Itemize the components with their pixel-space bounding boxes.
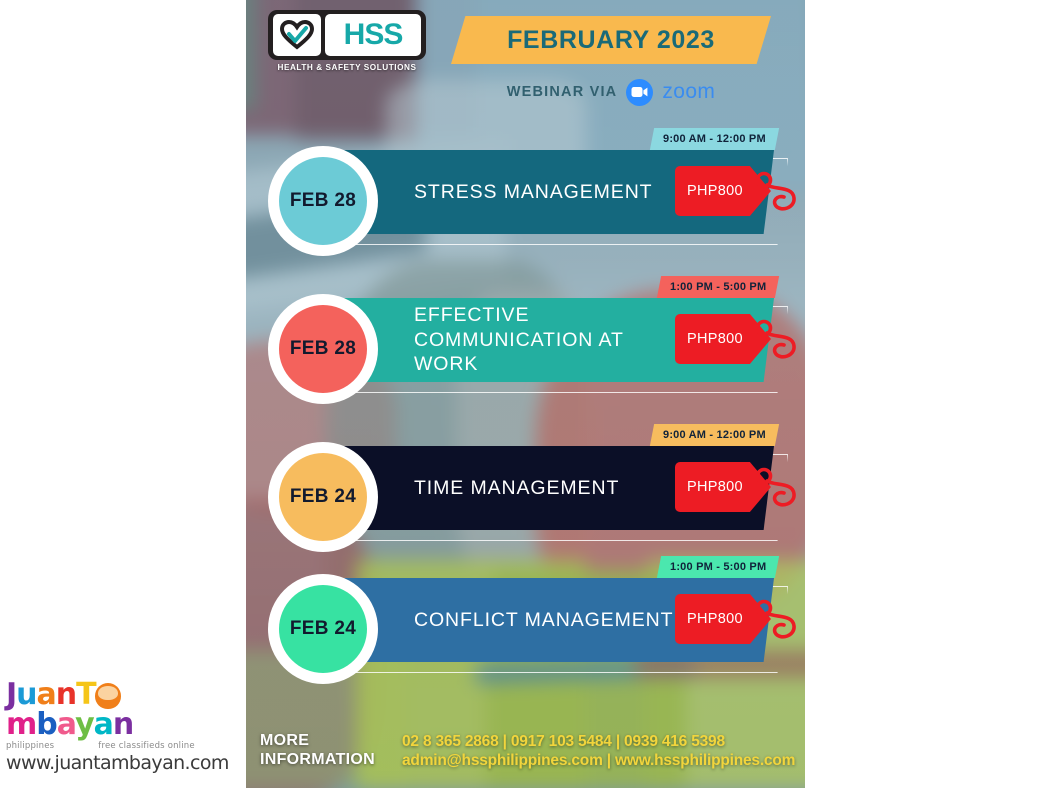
watermark-tag-right: free classifieds online xyxy=(98,741,195,751)
wm-letter: b xyxy=(36,707,56,742)
logo-wordmark: HSS xyxy=(325,14,421,56)
event-date-circle: FEB 28 xyxy=(268,146,378,256)
screenshot-root: HSS HEALTH & SAFETY SOLUTIONS FEBRUARY 2… xyxy=(0,0,1050,788)
poster-image: HSS HEALTH & SAFETY SOLUTIONS FEBRUARY 2… xyxy=(246,0,805,788)
event-date-circle: FEB 24 xyxy=(268,574,378,684)
event-date-text: FEB 24 xyxy=(290,486,356,508)
wm-letter: a xyxy=(57,707,75,742)
webinar-label: WEBINAR VIA xyxy=(507,84,618,100)
wm-letter: a xyxy=(94,707,113,742)
hss-logo: HSS HEALTH & SAFETY SOLUTIONS xyxy=(268,10,430,72)
event-title: TIME MANAGEMENT xyxy=(414,476,619,501)
event-price-text: PHP800 xyxy=(687,183,743,199)
event-price-text: PHP800 xyxy=(687,611,743,627)
price-tag-string-icon xyxy=(753,592,805,646)
event-time-badge: 1:00 PM - 5:00 PM xyxy=(657,556,780,578)
event-date-text: FEB 28 xyxy=(290,190,356,212)
event-date-circle: FEB 24 xyxy=(268,442,378,552)
event-row[interactable]: TIME MANAGEMENT 9:00 AM - 12:00 PM PHP80… xyxy=(246,436,805,556)
juantambayan-watermark: JuanTmbayan philippines free classifieds… xyxy=(6,680,206,774)
event-row[interactable]: EFFECTIVE COMMUNICATION AT WORK 1:00 PM … xyxy=(246,288,805,408)
more-label-line2: INFORMATION xyxy=(260,751,375,770)
watermark-wordmark: JuanTmbayan xyxy=(6,680,206,740)
webinar-platform-row: WEBINAR VIA zoom xyxy=(451,78,771,106)
event-price-text: PHP800 xyxy=(687,331,743,347)
more-information-label: MORE INFORMATION xyxy=(260,732,375,770)
event-date-text: FEB 28 xyxy=(290,338,356,360)
wm-letter: y xyxy=(75,707,94,742)
event-date-text: FEB 24 xyxy=(290,618,356,640)
more-label-line1: MORE xyxy=(260,732,375,751)
event-title: STRESS MANAGEMENT xyxy=(414,180,653,205)
event-time-text: 9:00 AM - 12:00 PM xyxy=(663,133,766,145)
wm-letter: m xyxy=(6,707,36,742)
logo-tagline: HEALTH & SAFETY SOLUTIONS xyxy=(268,63,426,72)
event-title: CONFLICT MANAGEMENT xyxy=(414,608,673,633)
zoom-camera-icon xyxy=(626,79,653,106)
event-date-circle: FEB 28 xyxy=(268,294,378,404)
price-tag-string-icon xyxy=(753,460,805,514)
event-row[interactable]: STRESS MANAGEMENT 9:00 AM - 12:00 PM PHP… xyxy=(246,140,805,260)
event-time-badge: 9:00 AM - 12:00 PM xyxy=(650,128,779,150)
price-tag-string-icon xyxy=(753,164,805,218)
poster-footer: MORE INFORMATION 02 8 365 2868 | 0917 10… xyxy=(246,732,805,778)
event-time-badge: 9:00 AM - 12:00 PM xyxy=(650,424,779,446)
contact-email-website: admin@hssphilippines.com | www.hssphilip… xyxy=(402,752,795,771)
event-time-badge: 1:00 PM - 5:00 PM xyxy=(657,276,780,298)
month-banner: FEBRUARY 2023 xyxy=(451,16,771,64)
contact-phone-numbers: 02 8 365 2868 | 0917 103 5484 | 0939 416… xyxy=(402,733,795,752)
watermark-url: www.juantambayan.com xyxy=(6,752,206,774)
event-title: EFFECTIVE COMMUNICATION AT WORK xyxy=(414,303,684,378)
month-title: FEBRUARY 2023 xyxy=(507,26,715,55)
wm-letter: n xyxy=(113,707,133,742)
watermark-tag-left: philippines xyxy=(6,741,54,751)
event-time-text: 1:00 PM - 5:00 PM xyxy=(670,561,766,573)
event-row[interactable]: CONFLICT MANAGEMENT 1:00 PM - 5:00 PM PH… xyxy=(246,568,805,688)
price-tag-string-icon xyxy=(753,312,805,366)
event-time-text: 9:00 AM - 12:00 PM xyxy=(663,429,766,441)
zoom-wordmark: zoom xyxy=(662,80,715,104)
heart-check-icon xyxy=(273,14,321,56)
contact-details: 02 8 365 2868 | 0917 103 5484 | 0939 416… xyxy=(402,733,795,771)
smiling-face-icon xyxy=(95,683,121,709)
event-price-text: PHP800 xyxy=(687,479,743,495)
watermark-taglines: philippines free classifieds online xyxy=(6,741,206,751)
event-time-text: 1:00 PM - 5:00 PM xyxy=(670,281,766,293)
